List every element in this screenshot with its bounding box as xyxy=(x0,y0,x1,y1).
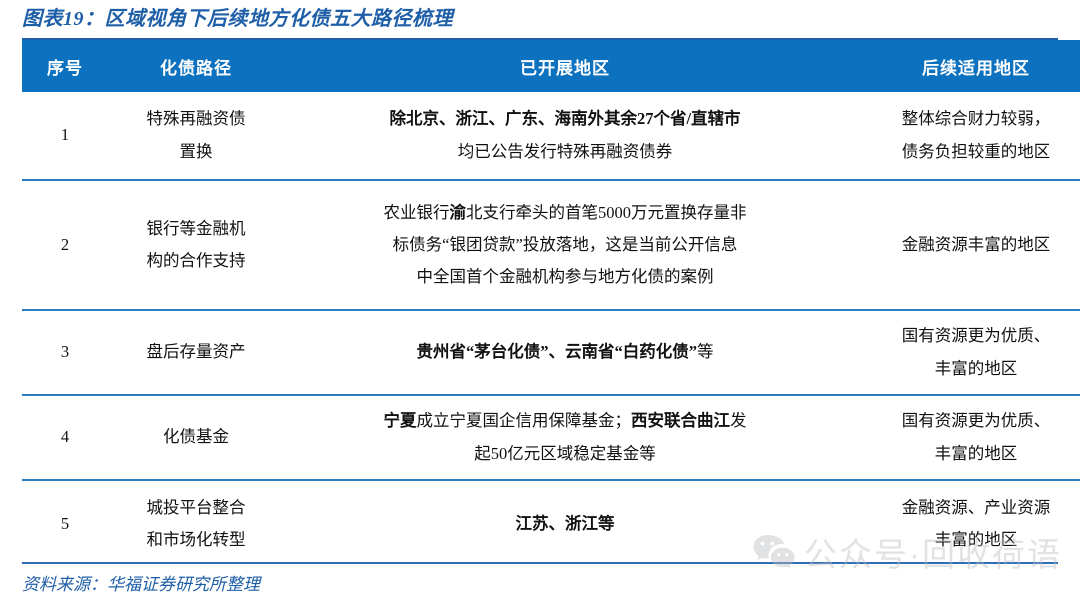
next-line: 金融资源丰富的地区 xyxy=(856,229,1080,261)
next-line: 国有资源更为优质、 xyxy=(856,405,1080,437)
row-done-cell: 江苏、浙江等 xyxy=(284,480,846,567)
done-text-bold: 贵州省“茅台化债”、云南省“白药化债” xyxy=(417,342,698,361)
path-line: 构的合作支持 xyxy=(108,245,284,277)
table-row: 3 盘后存量资产 贵州省“茅台化债”、云南省“白药化债”等 国有资源更为优质 xyxy=(22,310,1080,395)
done-line: 宁夏成立宁夏国企信用保障基金；西安联合曲江发 xyxy=(298,405,832,437)
row-index-cell: 2 xyxy=(22,180,108,310)
table-wrapper: 序号 化债路径 已开展地区 后续适用地区 1 特殊再融资债 置换 xyxy=(22,38,1058,567)
table-body: 1 特殊再融资债 置换 除北京、浙江、广东、海南外其余27个省/直辖市 均已公告… xyxy=(22,92,1080,567)
table-row: 1 特殊再融资债 置换 除北京、浙江、广东、海南外其余27个省/直辖市 均已公告… xyxy=(22,92,1080,180)
done-line: 均已公告发行特殊再融资债券 xyxy=(298,136,832,168)
figure-title: 图表19：区域视角下后续地方化债五大路径梳理 xyxy=(22,2,453,31)
done-line: 中全国首个金融机构参与地方化债的案例 xyxy=(298,261,832,293)
row-index-cell: 1 xyxy=(22,92,108,180)
column-header-done-area: 已开展地区 xyxy=(284,40,846,92)
path-line: 银行等金融机 xyxy=(108,213,284,245)
path-line: 和市场化转型 xyxy=(108,524,284,556)
path-line: 特殊再融资债 xyxy=(108,103,284,135)
column-header-path: 化债路径 xyxy=(108,40,284,92)
row-path-cell: 盘后存量资产 xyxy=(108,310,284,395)
done-text: 北支行牵头的首笔5000万元置换存量非 xyxy=(466,203,747,222)
done-text: 农业银行 xyxy=(384,203,450,222)
row-done-cell: 宁夏成立宁夏国企信用保障基金；西安联合曲江发 起50亿元区域稳定基金等 xyxy=(284,395,846,480)
row-path-cell: 城投平台整合 和市场化转型 xyxy=(108,480,284,567)
done-line-bold: 江苏、浙江等 xyxy=(298,508,832,540)
row-next-cell: 国有资源更为优质、 丰富的地区 xyxy=(846,310,1080,395)
column-header-index: 序号 xyxy=(22,40,108,92)
row-done-cell: 除北京、浙江、广东、海南外其余27个省/直辖市 均已公告发行特殊再融资债券 xyxy=(284,92,846,180)
path-line: 置换 xyxy=(108,136,284,168)
next-line: 丰富的地区 xyxy=(856,353,1080,385)
row-done-cell: 贵州省“茅台化债”、云南省“白药化债”等 xyxy=(284,310,846,395)
row-path-cell: 化债基金 xyxy=(108,395,284,480)
table-row: 2 银行等金融机 构的合作支持 农业银行渝北支行牵头的首笔5000万元置换存量非… xyxy=(22,180,1080,310)
done-line: 起50亿元区域稳定基金等 xyxy=(298,438,832,470)
done-text-bold: 西安联合曲江 xyxy=(631,411,730,430)
table-row: 5 城投平台整合 和市场化转型 江苏、浙江等 金 xyxy=(22,480,1080,567)
done-line-bold: 除北京、浙江、广东、海南外其余27个省/直辖市 xyxy=(298,103,832,135)
table-header-row: 序号 化债路径 已开展地区 后续适用地区 xyxy=(22,40,1080,92)
row-next-cell: 金融资源、产业资源 丰富的地区 xyxy=(846,480,1080,567)
done-line: 农业银行渝北支行牵头的首笔5000万元置换存量非 xyxy=(298,197,832,229)
done-line: 标债务“银团贷款”投放落地，这是当前公开信息 xyxy=(298,229,832,261)
done-text: 等 xyxy=(697,342,714,361)
row-next-cell: 整体综合财力较弱， 债务负担较重的地区 xyxy=(846,92,1080,180)
table-head: 序号 化债路径 已开展地区 后续适用地区 xyxy=(22,40,1080,92)
done-text: 发 xyxy=(730,411,747,430)
next-line: 整体综合财力较弱， xyxy=(856,103,1080,135)
path-line: 化债基金 xyxy=(108,421,284,453)
next-line: 丰富的地区 xyxy=(856,438,1080,470)
table-bottom-rule xyxy=(22,562,1058,564)
row-path-cell: 特殊再融资债 置换 xyxy=(108,92,284,180)
row-next-cell: 国有资源更为优质、 丰富的地区 xyxy=(846,395,1080,480)
done-text-bold: 渝 xyxy=(450,203,467,222)
row-index-cell: 4 xyxy=(22,395,108,480)
done-text-bold: 宁夏 xyxy=(384,411,417,430)
next-line: 债务负担较重的地区 xyxy=(856,136,1080,168)
row-done-cell: 农业银行渝北支行牵头的首笔5000万元置换存量非 标债务“银团贷款”投放落地，这… xyxy=(284,180,846,310)
next-line: 丰富的地区 xyxy=(856,524,1080,556)
source-note: 资料来源：华福证券研究所整理 xyxy=(22,570,260,595)
row-index-cell: 3 xyxy=(22,310,108,395)
row-index-cell: 5 xyxy=(22,480,108,567)
done-text: 成立宁夏国企信用保障基金； xyxy=(417,411,632,430)
column-header-next-area: 后续适用地区 xyxy=(846,40,1080,92)
table-row: 4 化债基金 宁夏成立宁夏国企信用保障基金；西安联合曲江发 起50亿元区域稳定基… xyxy=(22,395,1080,480)
five-paths-table: 序号 化债路径 已开展地区 后续适用地区 1 特殊再融资债 置换 xyxy=(22,40,1080,567)
next-line: 金融资源、产业资源 xyxy=(856,492,1080,524)
next-line: 国有资源更为优质、 xyxy=(856,320,1080,352)
row-path-cell: 银行等金融机 构的合作支持 xyxy=(108,180,284,310)
figure-container: 图表19：区域视角下后续地方化债五大路径梳理 序号 化债路径 已开展地区 后续适… xyxy=(0,0,1080,598)
row-next-cell: 金融资源丰富的地区 xyxy=(846,180,1080,310)
path-line: 城投平台整合 xyxy=(108,492,284,524)
path-line: 盘后存量资产 xyxy=(108,336,284,368)
done-line: 贵州省“茅台化债”、云南省“白药化债”等 xyxy=(298,336,832,368)
